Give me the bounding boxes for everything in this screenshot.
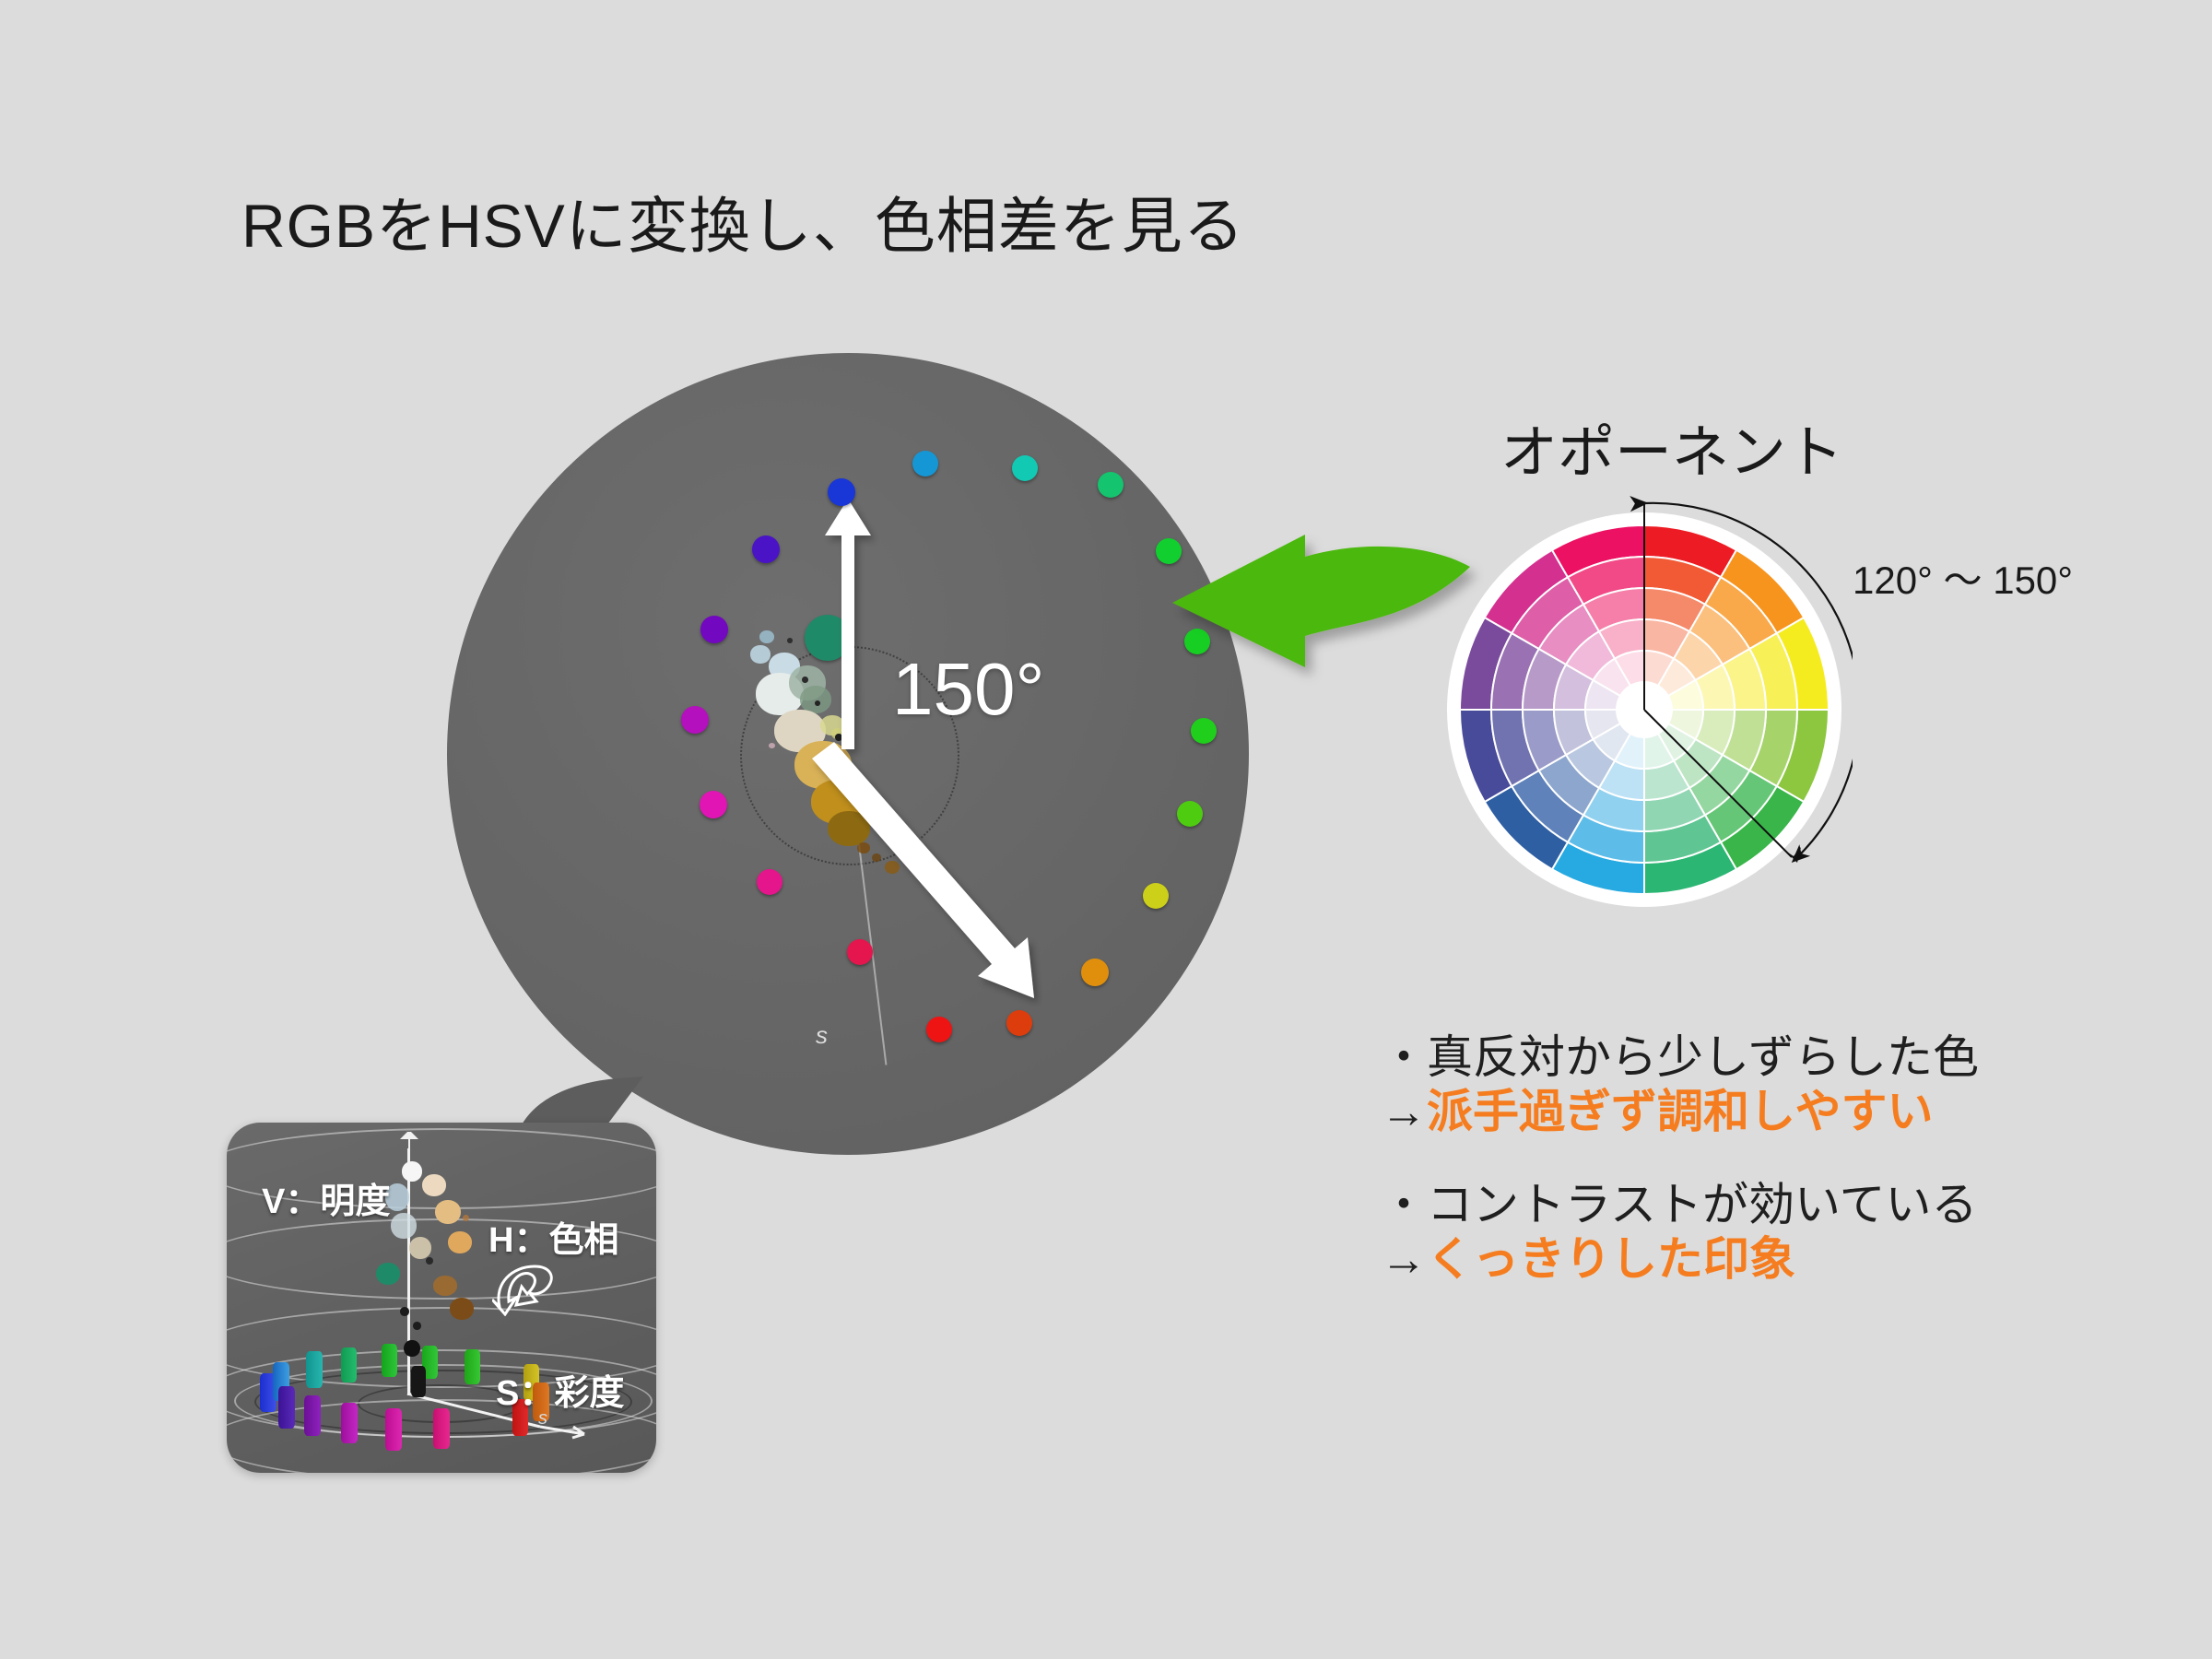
label-sat-axis-tick: s [538, 1408, 547, 1430]
opponent-heading: オポーネント [1500, 406, 1843, 488]
hsv-cylinder-thumbnail: V：明度 H：色相 S：彩度 s [227, 1123, 656, 1473]
hue-cylinder [479, 1403, 496, 1441]
hue-cylinder [306, 1351, 323, 1388]
notes-list: ・真反対から少しずらした色 →派手過ぎず調和しやすい ・コントラストが効いている… [1381, 1030, 2136, 1287]
label-value: V：明度 [262, 1172, 390, 1223]
hue-cylinder [382, 1344, 397, 1377]
thumbnail-scatter [382, 1159, 511, 1390]
wheel-angle-markers [1436, 496, 1853, 912]
slide-canvas: RGBをHSVに変換し、色相差を見る s [0, 0, 2212, 1659]
note-bullet: ・コントラストが効いている [1381, 1178, 2136, 1232]
hue-cylinder [341, 1347, 357, 1382]
label-saturation: S：彩度 [496, 1364, 624, 1415]
hue-cylinder [411, 1366, 426, 1397]
hue-scatter-plot: s [447, 353, 1249, 1155]
hue-cylinder [278, 1386, 295, 1429]
hue-cylinder [433, 1408, 450, 1449]
label-saturation-text: S：彩度 [496, 1374, 624, 1413]
notes-gap [1381, 1139, 2136, 1178]
hue-cylinder [341, 1403, 358, 1443]
hue-angle-label: 150° [892, 647, 1044, 732]
note-conclusion-row: →派手過ぎず調和しやすい [1381, 1085, 2136, 1139]
note-bullet: ・真反対から少しずらした色 [1381, 1030, 2136, 1085]
page-title: RGBをHSVに変換し、色相差を見る [241, 177, 1245, 265]
pointer-arrow-green [1152, 516, 1484, 700]
label-hue: H：色相 [488, 1211, 618, 1262]
note-arrow: → [1381, 1086, 1427, 1137]
hue-range-label: 120° 〜 150° [1853, 549, 2073, 606]
note-arrow: → [1381, 1233, 1427, 1285]
hue-cylinder [304, 1395, 321, 1436]
note-conclusion: くっきりした印象 [1427, 1233, 1795, 1285]
hue-cylinder [385, 1408, 402, 1451]
note-conclusion-row: →くっきりした印象 [1381, 1232, 2136, 1287]
note-conclusion: 派手過ぎず調和しやすい [1427, 1086, 1934, 1137]
hue-cylinder [465, 1349, 480, 1384]
angle-arrows [447, 353, 1249, 1155]
